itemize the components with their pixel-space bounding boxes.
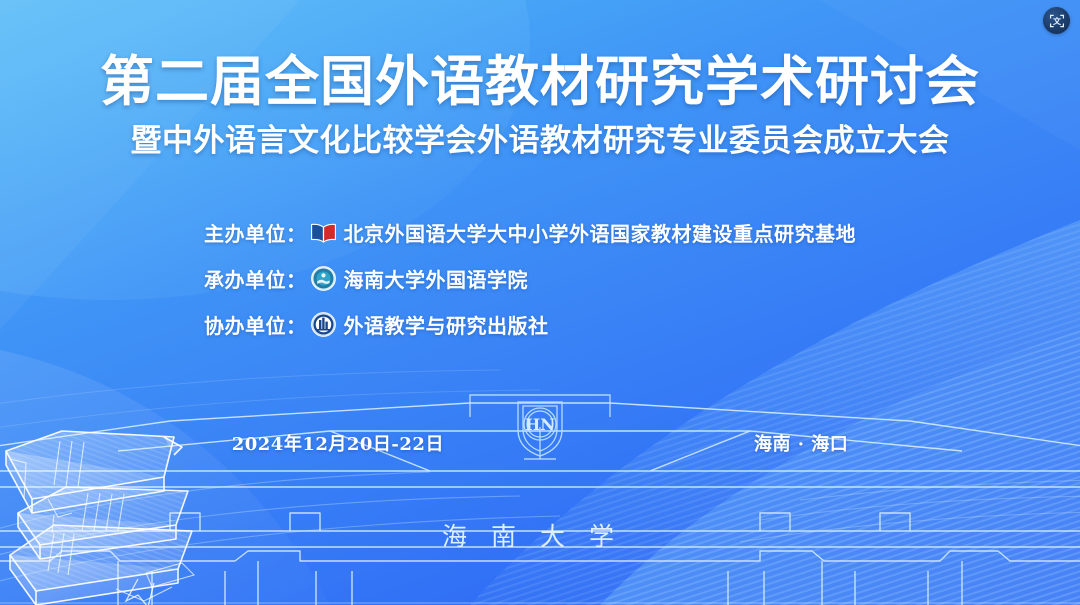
fltrp-seal-icon	[310, 311, 337, 338]
conference-poster: 海南大学 HN	[0, 0, 1080, 605]
translate-scan-icon: 文	[1049, 13, 1065, 29]
headline-block: 第二届全国外语教材研究学术研讨会 暨中外语言文化比较学会外语教材研究专业委员会成…	[0, 52, 1080, 160]
poster-subtitle: 暨中外语言文化比较学会外语教材研究专业委员会成立大会	[0, 124, 1080, 160]
organizer-row-host: 主办单位： 北京外国语大学大中小学外语国家教材建设重点研究基地	[204, 218, 856, 247]
hainan-university-seal-icon	[310, 265, 337, 292]
organizer-label-organizer: 承办单位：	[204, 264, 307, 293]
organizer-label-host: 主办单位：	[204, 218, 307, 247]
organizer-label-coorganizer: 协办单位：	[204, 310, 307, 339]
gate-inscription: 海南大学	[442, 522, 638, 551]
organizer-name-coorganizer: 外语教学与研究出版社	[344, 310, 549, 339]
svg-text:文: 文	[1053, 16, 1062, 26]
translate-scan-button[interactable]: 文	[1043, 7, 1070, 34]
organizer-name-host: 北京外国语大学大中小学外语国家教材建设重点研究基地	[344, 218, 857, 247]
organizer-name-organizer: 海南大学外国语学院	[344, 264, 529, 293]
organizer-row-organizer: 承办单位： 海南大学外国语学院	[204, 264, 528, 293]
event-info-strip: 2024年12月20日-22日 海南 · 海口	[0, 430, 1080, 456]
organizer-row-coorganizer: 协办单位： 外语教学与研究出版社	[204, 310, 549, 339]
organizer-list: 主办单位： 北京外国语大学大中小学外语国家教材建设重点研究基地 承办单位：	[0, 218, 1080, 339]
poster-title: 第二届全国外语教材研究学术研讨会	[0, 52, 1080, 110]
event-location: 海南 · 海口	[754, 430, 848, 456]
event-date: 2024年12月20日-22日	[232, 430, 444, 456]
open-book-logo-icon	[310, 219, 337, 246]
